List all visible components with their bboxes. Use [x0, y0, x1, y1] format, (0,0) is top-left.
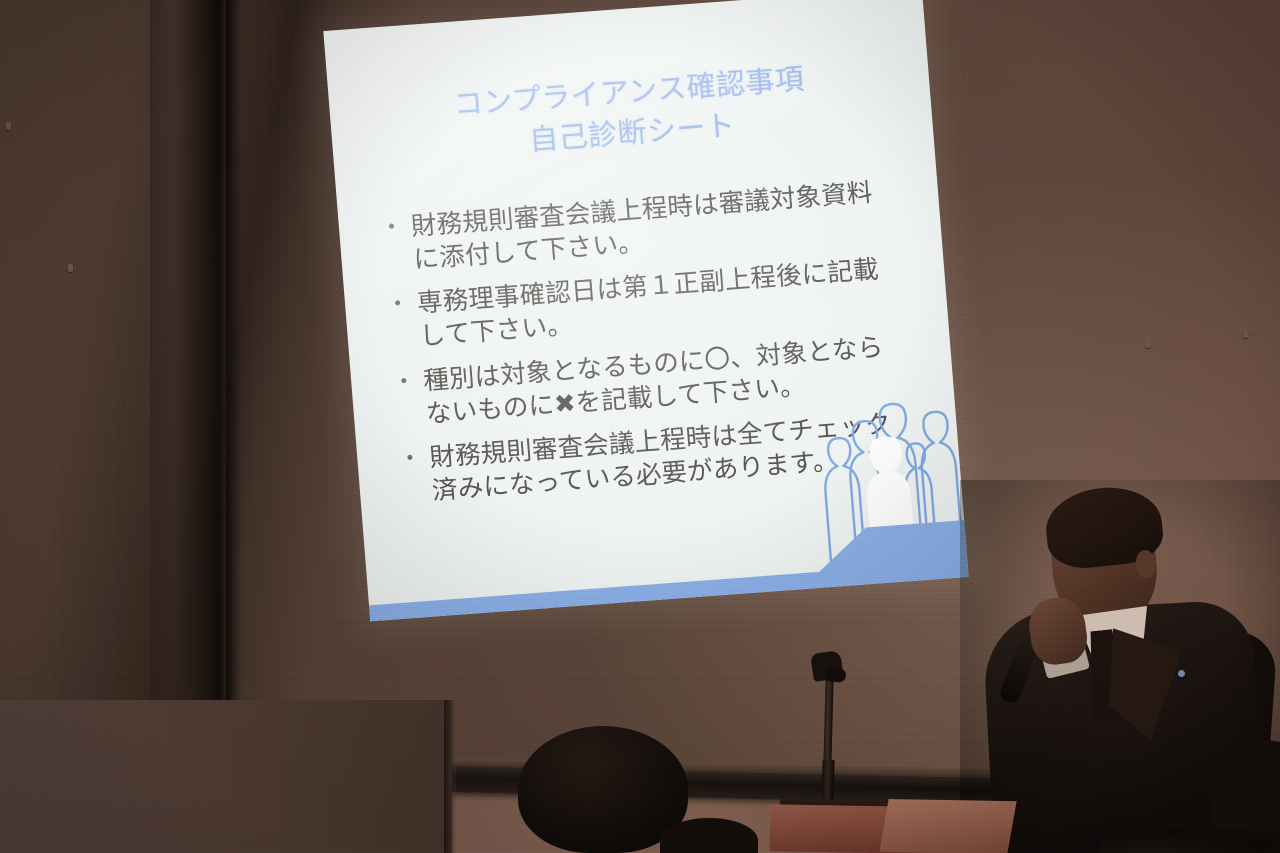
bullet-marker-icon — [401, 378, 406, 383]
slide-accent-band — [366, 517, 969, 621]
curtain-fold — [226, 0, 242, 790]
presentation-photo-scene: コンプライアンス確認事項 自己診断シート 財務規則審査会議上程時は審議対象資料 … — [0, 0, 1280, 853]
bullet-marker-icon — [395, 301, 400, 306]
lectern-front-panel — [879, 799, 1016, 853]
projection-screen: コンプライアンス確認事項 自己診断シート 財務規則審査会議上程時は審議対象資料 … — [340, 0, 952, 612]
wall-nail — [6, 122, 11, 130]
wall-nail — [1243, 330, 1248, 338]
wall-nail — [68, 264, 73, 272]
wall-panel-edge — [444, 700, 456, 853]
wall-nail — [1145, 340, 1150, 348]
foreground-foliage — [1100, 828, 1280, 853]
lapel-pin-icon — [1178, 670, 1185, 677]
bullet-marker-icon — [389, 223, 394, 228]
wall-side-panel — [0, 700, 452, 853]
bullet-marker-icon — [407, 455, 412, 460]
curtain-drape — [150, 0, 232, 790]
presentation-slide: コンプライアンス確認事項 自己診断シート 財務規則審査会議上程時は審議対象資料 … — [323, 0, 968, 621]
slide-title: コンプライアンス確認事項 自己診断シート — [328, 50, 933, 177]
microphone-stand-clip-icon — [825, 667, 846, 683]
